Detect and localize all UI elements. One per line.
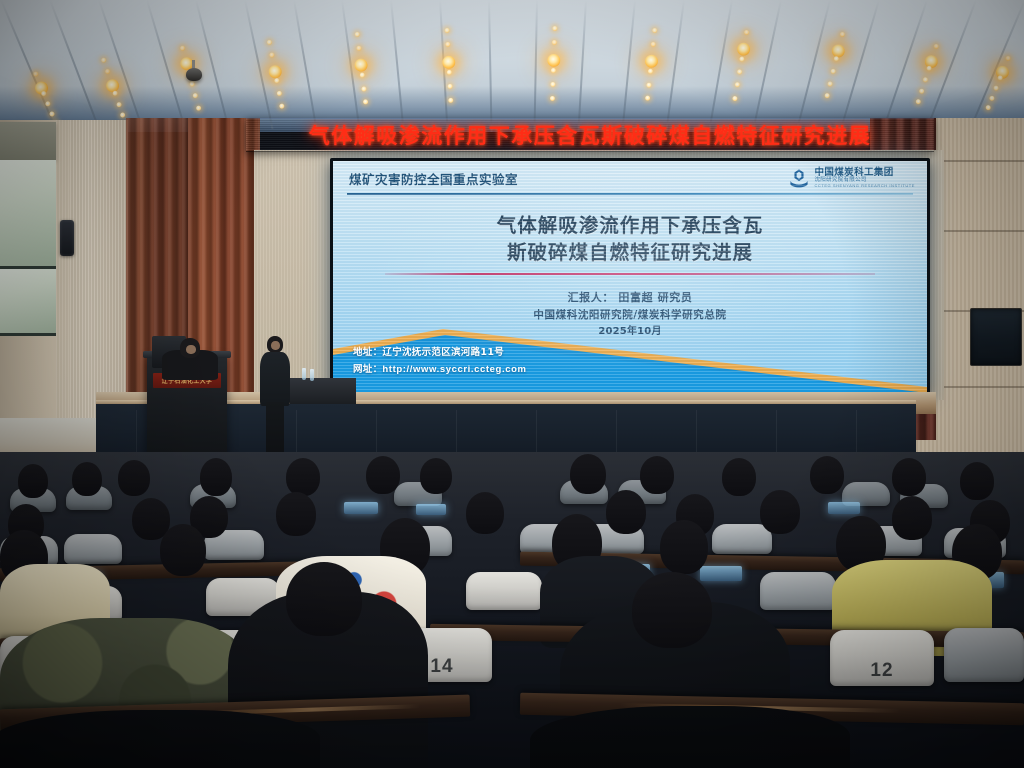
audience-head bbox=[892, 496, 932, 540]
website-value: http://www.syccri.ccteg.com bbox=[382, 364, 526, 375]
lectern-person-face bbox=[186, 345, 196, 354]
audience-head bbox=[606, 490, 646, 534]
ceiling-light-bulb bbox=[547, 54, 560, 67]
ceiling-light-dot bbox=[276, 91, 282, 97]
seat-number: 12 bbox=[870, 660, 893, 682]
ceiling-light-dot bbox=[839, 31, 845, 37]
ceiling-light-dot bbox=[359, 72, 365, 78]
slide-title-underline bbox=[385, 273, 875, 275]
slide-lab-name: 煤矿灾害防控全国重点实验室 bbox=[349, 169, 518, 188]
right-wall-speaker-icon bbox=[970, 308, 1022, 366]
laptop-screen-glow[interactable] bbox=[416, 504, 446, 515]
slide-header-rule bbox=[347, 193, 913, 195]
ceiling-light-dot bbox=[552, 26, 557, 31]
ceiling-light-dot bbox=[651, 28, 656, 33]
ceiling-light-dot bbox=[915, 99, 921, 105]
ceiling-light-dot bbox=[100, 57, 106, 63]
auditorium-scene: 气体解吸渗流作用下承压含瓦斯破碎煤自燃特征研究进展 煤矿灾害防控全国重点实验室 … bbox=[0, 0, 1024, 768]
audience-head bbox=[18, 464, 48, 498]
ceiling-light-dot bbox=[44, 101, 51, 108]
ceiling-light-dot bbox=[266, 40, 272, 46]
ceiling-light-bulb bbox=[353, 58, 367, 72]
ceiling-light-dot bbox=[549, 96, 554, 101]
ceiling-light-dot bbox=[278, 103, 284, 109]
audience-head bbox=[366, 456, 400, 494]
ceiling-light-dot bbox=[112, 90, 118, 96]
ceiling-light-dot bbox=[988, 95, 995, 102]
audience-head bbox=[286, 458, 320, 496]
ccteg-logo: 中国煤炭科工集团 沈阳研究院有限公司 CCTEG SHENYANG RESEAR… bbox=[788, 168, 915, 188]
standing-person-torso bbox=[260, 352, 290, 406]
audience-head bbox=[760, 490, 800, 534]
water-bottle bbox=[310, 369, 314, 381]
audience-head-front bbox=[632, 572, 712, 648]
address-value: 辽宁沈抚示范区滨河路11号 bbox=[382, 347, 504, 358]
standing-person-face bbox=[271, 341, 280, 350]
ceiling-light-dot bbox=[447, 84, 452, 89]
slide-website-line: 网址：http://www.syccri.ccteg.com bbox=[353, 361, 527, 379]
ceiling-light-dot bbox=[189, 81, 195, 87]
ceiling-light-dot bbox=[734, 82, 740, 88]
audience-head bbox=[160, 524, 206, 576]
ceiling-light-dot bbox=[996, 75, 1003, 82]
ceiling-light-dot bbox=[361, 86, 367, 92]
ceiling-light-dot bbox=[925, 65, 931, 71]
ceiling-light-dot bbox=[732, 95, 738, 101]
logo-institute-en: CCTEG SHENYANG RESEARCH INSTITUTE bbox=[814, 184, 915, 188]
ceiling-light-dot bbox=[119, 112, 125, 118]
ceiling-light-dot bbox=[115, 101, 121, 107]
foreground-silhouette bbox=[530, 706, 850, 768]
website-label: 网址： bbox=[353, 364, 382, 375]
ceiling-camera-icon bbox=[186, 68, 202, 81]
window-blind bbox=[0, 122, 56, 160]
projection-screen: 煤矿灾害防控全国重点实验室 中国煤炭科工集团 沈阳研究院有限公司 CCTEG S… bbox=[330, 158, 930, 396]
ceiling-light-dot bbox=[445, 42, 450, 47]
ceiling-light-dot bbox=[48, 111, 55, 118]
audience-head bbox=[570, 454, 606, 494]
seat[interactable] bbox=[944, 628, 1024, 682]
ccteg-logo-icon bbox=[788, 168, 810, 188]
ceiling-light-dot bbox=[550, 68, 555, 73]
ceiling-light-dot bbox=[918, 88, 924, 94]
ceiling-light-dot bbox=[833, 56, 839, 62]
window-sill bbox=[0, 333, 56, 336]
ceiling-light-dot bbox=[743, 30, 749, 36]
ceiling-light-dot bbox=[933, 43, 939, 49]
window-upper bbox=[0, 160, 56, 268]
audience-head bbox=[420, 458, 452, 494]
ceiling-light-dot bbox=[650, 41, 655, 46]
stage-side-table bbox=[290, 378, 356, 404]
audience-head-front bbox=[286, 562, 362, 636]
foreground-silhouette bbox=[0, 710, 320, 768]
ceiling-light-dot bbox=[551, 40, 556, 45]
ceiling-light-dot bbox=[32, 71, 39, 78]
person-at-lectern bbox=[160, 336, 220, 378]
ceiling-light-dot bbox=[104, 68, 110, 74]
window-lower bbox=[0, 269, 56, 335]
ceiling-light-dot bbox=[446, 70, 451, 75]
address-label: 地址： bbox=[353, 347, 382, 358]
ceiling-light-bulb bbox=[644, 54, 658, 68]
audience-head bbox=[118, 460, 150, 496]
presenter-name: 汇报人： 田富超 研究员 bbox=[333, 289, 927, 307]
laptop-screen-glow[interactable] bbox=[344, 502, 378, 514]
slide-title-line2: 斯破碎煤自燃特征研究进展 bbox=[333, 240, 927, 267]
audience-head bbox=[960, 462, 994, 500]
left-wall-panel-edge bbox=[56, 120, 70, 460]
ceiling-light-dot bbox=[273, 78, 279, 84]
led-banner-text: 气体解吸渗流作用下承压含瓦斯破碎煤自燃特征研究进展 bbox=[309, 120, 872, 150]
audience-area: 14 14 bbox=[0, 452, 1024, 768]
slide-address-line: 地址：辽宁沈抚示范区滨河路11号 bbox=[353, 344, 527, 362]
ceiling-light-dot bbox=[736, 69, 742, 75]
slide-contact-block: 地址：辽宁沈抚示范区滨河路11号 网址：http://www.syccri.cc… bbox=[353, 344, 527, 379]
ceiling-light-dot bbox=[830, 68, 836, 74]
wall-speaker-icon bbox=[60, 220, 74, 256]
ceiling-light-dot bbox=[644, 96, 649, 101]
ceiling-light-bulb bbox=[736, 42, 751, 57]
ceiling-light-dot bbox=[647, 69, 652, 74]
audience-head bbox=[892, 458, 926, 496]
slide-title: 气体解吸渗流作用下承压含瓦 斯破碎煤自燃特征研究进展 bbox=[333, 213, 927, 267]
audience-head bbox=[276, 492, 316, 536]
ceiling-light-bulb bbox=[267, 64, 282, 79]
ceiling-light-dot bbox=[739, 56, 745, 62]
audience-head bbox=[200, 458, 232, 496]
ceiling-light-dot bbox=[356, 45, 362, 51]
ceiling bbox=[0, 0, 1024, 132]
ceiling-light-dot bbox=[354, 32, 360, 38]
ceiling-light-dot bbox=[984, 105, 991, 112]
ceiling-light-dot bbox=[179, 45, 185, 51]
ceiling-light-dot bbox=[444, 28, 449, 33]
audience-head bbox=[810, 456, 844, 494]
seat[interactable] bbox=[712, 524, 772, 554]
ceiling-light-dot bbox=[362, 100, 368, 106]
ceiling-light-dot bbox=[550, 82, 555, 87]
audience-head bbox=[466, 492, 504, 534]
ceiling-light-dot bbox=[922, 77, 928, 83]
audience-head bbox=[72, 462, 102, 496]
slide-title-line1: 气体解吸渗流作用下承压含瓦 bbox=[333, 213, 927, 240]
laptop-screen-glow[interactable] bbox=[828, 502, 860, 514]
ceiling-light-dot bbox=[827, 81, 833, 87]
slide-canvas: 煤矿灾害防控全国重点实验室 中国煤炭科工集团 沈阳研究院有限公司 CCTEG S… bbox=[333, 161, 927, 393]
ceiling-light-dot bbox=[269, 52, 275, 58]
ceiling-light-bulb bbox=[441, 56, 455, 70]
seat[interactable] bbox=[64, 534, 122, 564]
ceiling-light-dot bbox=[992, 85, 999, 92]
ceiling-light-dot bbox=[824, 93, 830, 99]
seat[interactable] bbox=[466, 572, 542, 610]
seat-12[interactable]: 12 bbox=[830, 630, 934, 686]
ceiling-light-dot bbox=[448, 98, 453, 103]
water-bottle bbox=[302, 368, 306, 380]
seat[interactable] bbox=[760, 572, 836, 610]
led-banner: 气体解吸渗流作用下承压含瓦斯破碎煤自燃特征研究进展 bbox=[246, 118, 934, 152]
slide-header: 煤矿灾害防控全国重点实验室 中国煤炭科工集团 沈阳研究院有限公司 CCTEG S… bbox=[333, 161, 927, 195]
ceiling-light-dot bbox=[192, 93, 198, 99]
ccteg-logo-text: 中国煤炭科工集团 沈阳研究院有限公司 CCTEG SHENYANG RESEAR… bbox=[814, 168, 915, 188]
person-standing bbox=[258, 336, 292, 464]
audience-head bbox=[640, 456, 674, 494]
laptop-screen-glow[interactable] bbox=[700, 566, 742, 581]
ceiling-light-dot bbox=[195, 105, 201, 111]
audience-head bbox=[722, 458, 756, 496]
ceiling-light-dot bbox=[1004, 55, 1011, 62]
ceiling-light-dot bbox=[646, 82, 651, 87]
seat-number: 14 bbox=[430, 656, 453, 678]
audience-head bbox=[660, 520, 708, 574]
